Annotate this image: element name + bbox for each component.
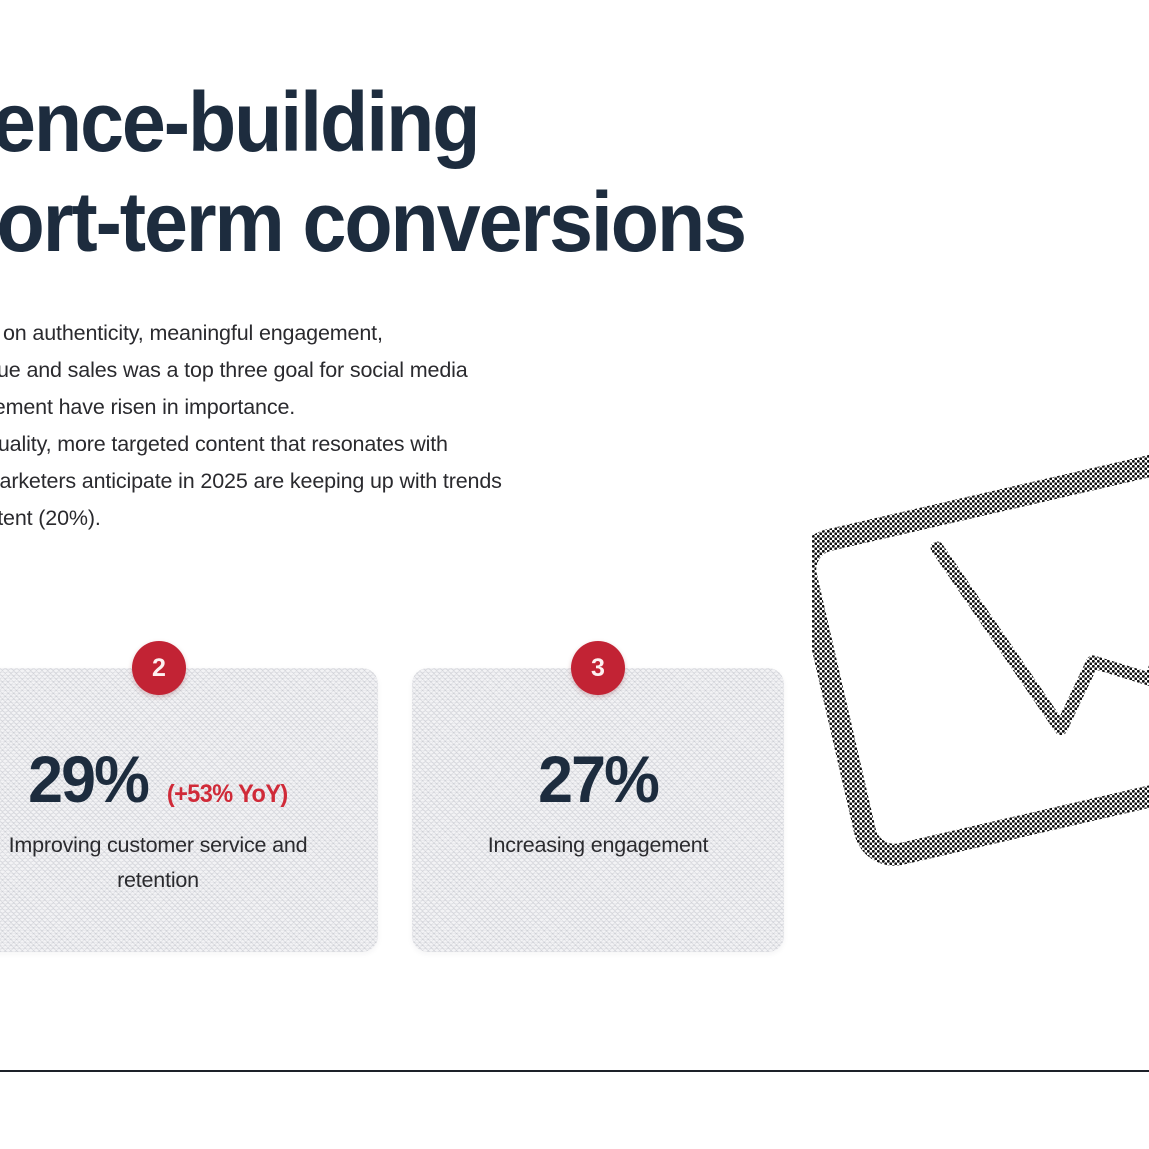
stat-card-rank-3: 3 27% Increasing engagement: [412, 668, 784, 952]
stat-content: 29% (+53% YoY) Improving customer servic…: [0, 746, 378, 898]
headline-line-2: rms short-term conversions: [0, 172, 1149, 272]
body-line-4: rioritizing higher-quality, more targete…: [0, 426, 930, 463]
rank-badge: 3: [571, 641, 625, 695]
headline-line-1: m audience-building: [0, 72, 1149, 172]
footer-divider: [0, 1070, 1149, 1072]
body-line-5: es social media marketers anticipate in …: [0, 463, 930, 500]
body-copy: ands are focusing on authenticity, meani…: [0, 315, 930, 537]
body-line-3: ention and engagement have risen in impo…: [0, 389, 930, 426]
stat-label: Increasing engagement: [426, 828, 770, 863]
body-line-6: ting engaging content (20%).: [0, 500, 930, 537]
stat-label: Improving customer service and retention: [0, 828, 364, 898]
stat-card-rank-2: 2 29% (+53% YoY) Improving customer serv…: [0, 668, 378, 952]
stat-delta-yoy: (+53% YoY): [167, 782, 288, 807]
stat-figure-row: 27%: [426, 746, 770, 812]
stat-content: 27% Increasing engagement: [412, 746, 784, 863]
rank-badge: 2: [132, 641, 186, 695]
body-line-2: , increasing revenue and sales was a top…: [0, 352, 930, 389]
body-line-1: ands are focusing on authenticity, meani…: [0, 315, 930, 352]
stat-figure: 29%: [28, 746, 148, 812]
infographic-page: m audience-building rms short-term conve…: [0, 0, 1149, 1149]
stat-figure-row: 29% (+53% YoY): [0, 746, 364, 812]
stat-figure: 27%: [538, 746, 658, 812]
page-headline: m audience-building rms short-term conve…: [0, 72, 1149, 272]
